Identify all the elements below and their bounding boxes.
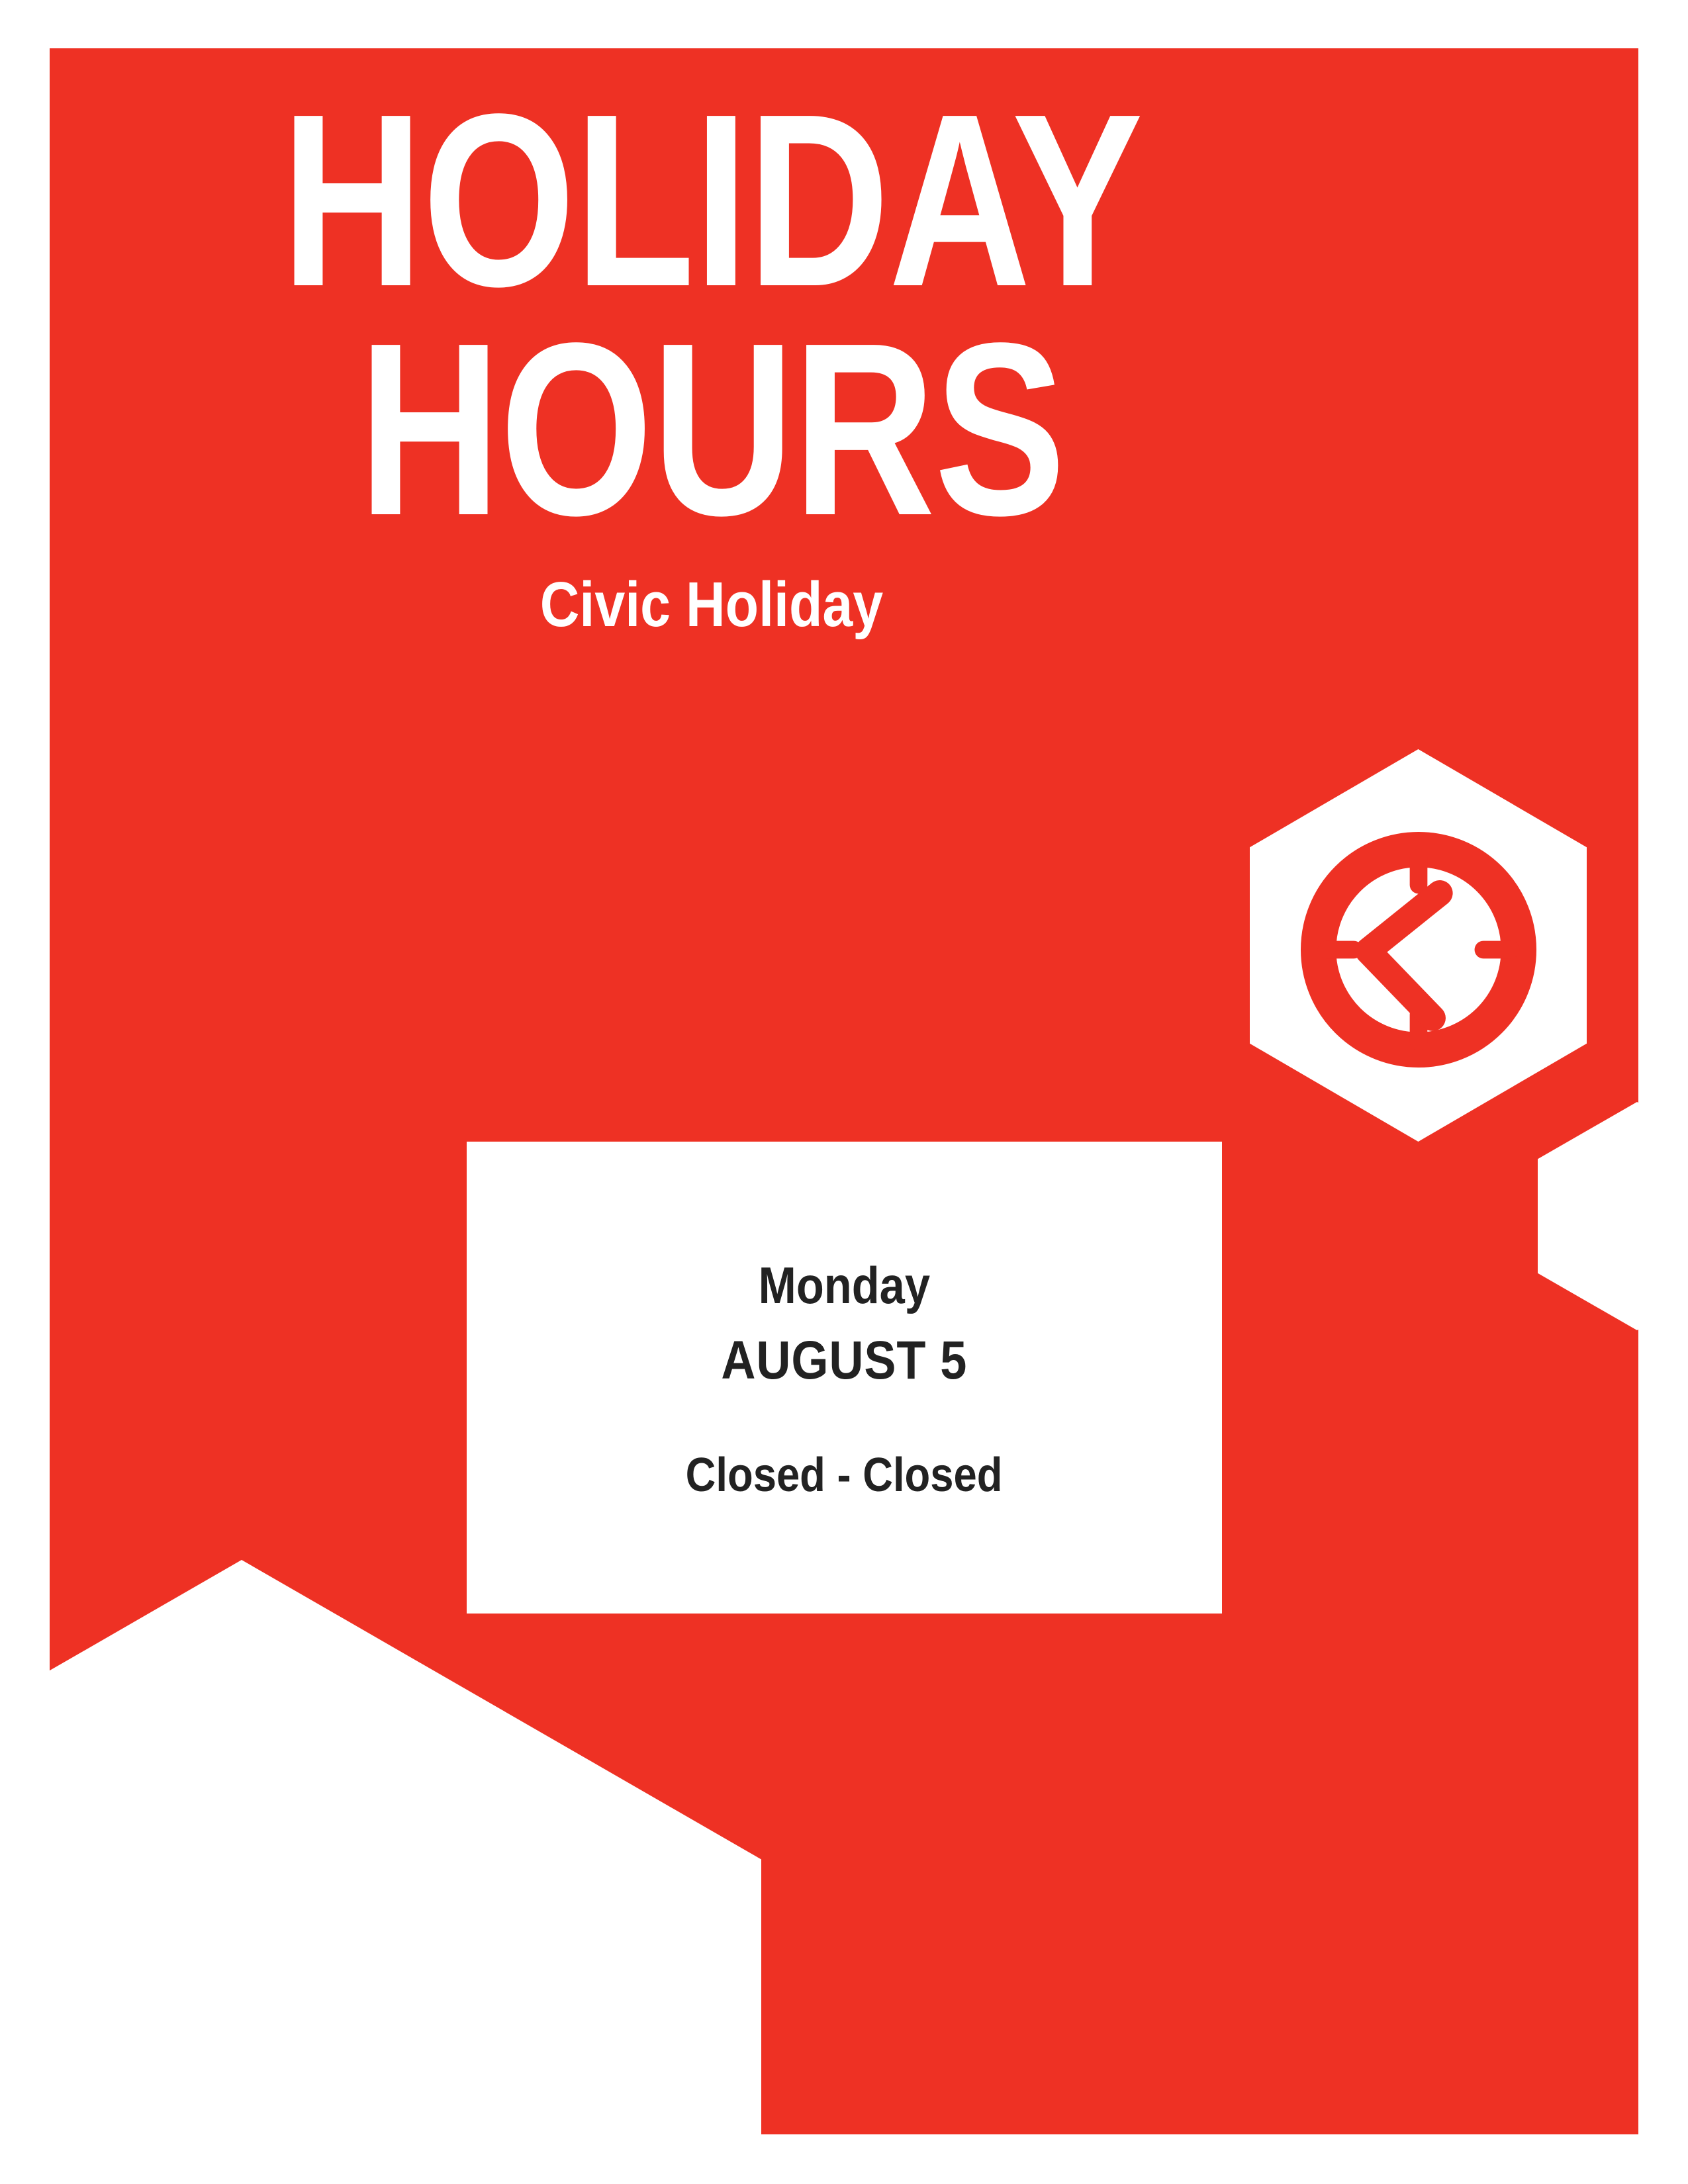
red-background-panel: [50, 48, 1638, 2134]
clock-icon: [1301, 832, 1536, 1068]
hexagon-shape-bottom-left: [50, 1560, 761, 2134]
holiday-day-label: Monday: [759, 1259, 930, 1311]
holiday-info-card: Monday AUGUST 5 Closed - Closed: [467, 1142, 1222, 1614]
holiday-date-label: AUGUST 5: [722, 1334, 968, 1388]
holiday-hours-label: Closed - Closed: [686, 1451, 1003, 1499]
holiday-hours-poster: HOLIDAY HOURS Civic Holiday Monday AUGUS…: [0, 0, 1688, 2184]
hexagon-shape-small-right: [1538, 1102, 1638, 1330]
